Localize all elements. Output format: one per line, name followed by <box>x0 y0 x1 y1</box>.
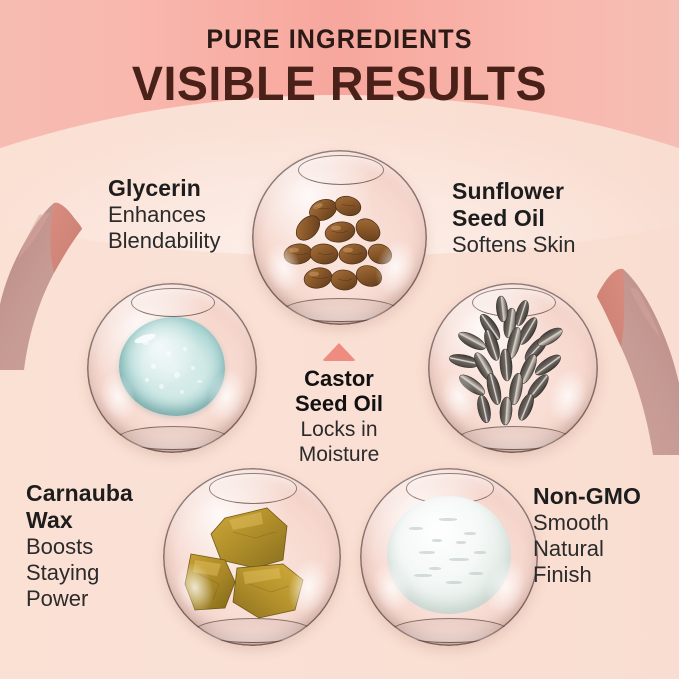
ingredient-desc-line: Boosts <box>26 534 133 560</box>
bubble-non-gmo <box>360 468 538 646</box>
ingredient-infographic: PURE INGREDIENTS VISIBLE RESULTS <box>0 0 679 679</box>
bubble-sunflower-seed-oil <box>428 283 598 453</box>
label-castor-seed-oil: Castor Seed Oil Locks in Moisture <box>259 343 419 467</box>
ingredient-desc-line: Moisture <box>259 442 419 467</box>
ingredient-desc-line: Finish <box>533 562 641 588</box>
heading-block: PURE INGREDIENTS VISIBLE RESULTS <box>0 0 679 109</box>
ingredient-desc-line: Enhances <box>108 202 221 228</box>
glass-rim-bottom <box>284 298 398 323</box>
ingredient-name: Seed Oil <box>452 205 576 232</box>
heading-line-2: VISIBLE RESULTS <box>10 61 669 109</box>
bubble-carnauba-wax <box>163 468 341 646</box>
ingredient-name: Carnauba <box>26 480 133 507</box>
triangle-up-icon <box>322 343 356 361</box>
ingredient-desc-line: Softens Skin <box>452 232 576 258</box>
ingredient-desc-line: Smooth <box>533 510 641 536</box>
ingredient-desc-line: Staying <box>26 560 133 586</box>
label-glycerin: Glycerin Enhances Blendability <box>108 175 221 254</box>
heading-line-1: PURE INGREDIENTS <box>24 26 655 53</box>
ingredient-name: Glycerin <box>108 175 221 202</box>
ingredient-desc-line: Blendability <box>108 228 221 254</box>
ingredient-desc-line: Natural <box>533 536 641 562</box>
label-non-gmo: Non-GMO Smooth Natural Finish <box>533 483 641 588</box>
bubble-glycerin <box>87 283 257 453</box>
ingredient-desc-line: Power <box>26 586 133 612</box>
bubble-castor-seed-oil <box>252 150 427 325</box>
label-carnauba-wax: Carnauba Wax Boosts Staying Power <box>26 480 133 612</box>
ingredient-name: Wax <box>26 507 133 534</box>
ingredient-desc-line: Locks in <box>259 417 419 442</box>
label-sunflower-seed-oil: Sunflower Seed Oil Softens Skin <box>452 178 576 258</box>
ingredient-name: Non-GMO <box>533 483 641 510</box>
ingredient-name: Castor <box>259 366 419 391</box>
ingredient-name: Seed Oil <box>259 391 419 416</box>
ingredient-name: Sunflower <box>452 178 576 205</box>
